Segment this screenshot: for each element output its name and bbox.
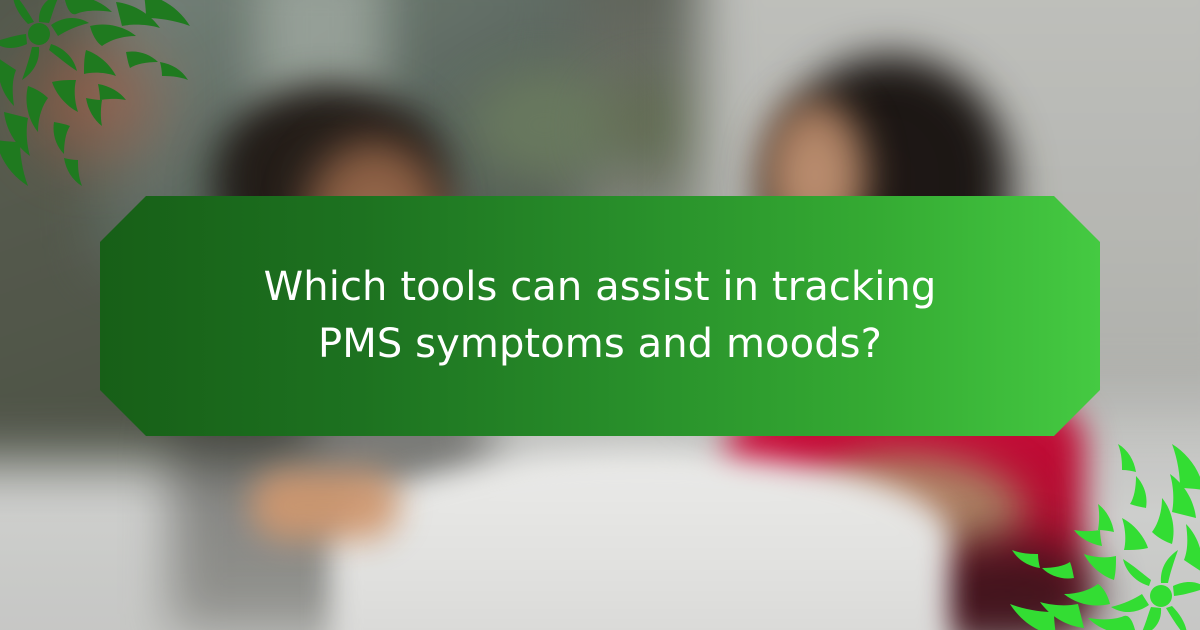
question-banner: Which tools can assist in tracking PMS s… bbox=[100, 196, 1100, 436]
share-card: Which tools can assist in tracking PMS s… bbox=[0, 0, 1200, 630]
page-title: Which tools can assist in tracking PMS s… bbox=[250, 259, 950, 373]
